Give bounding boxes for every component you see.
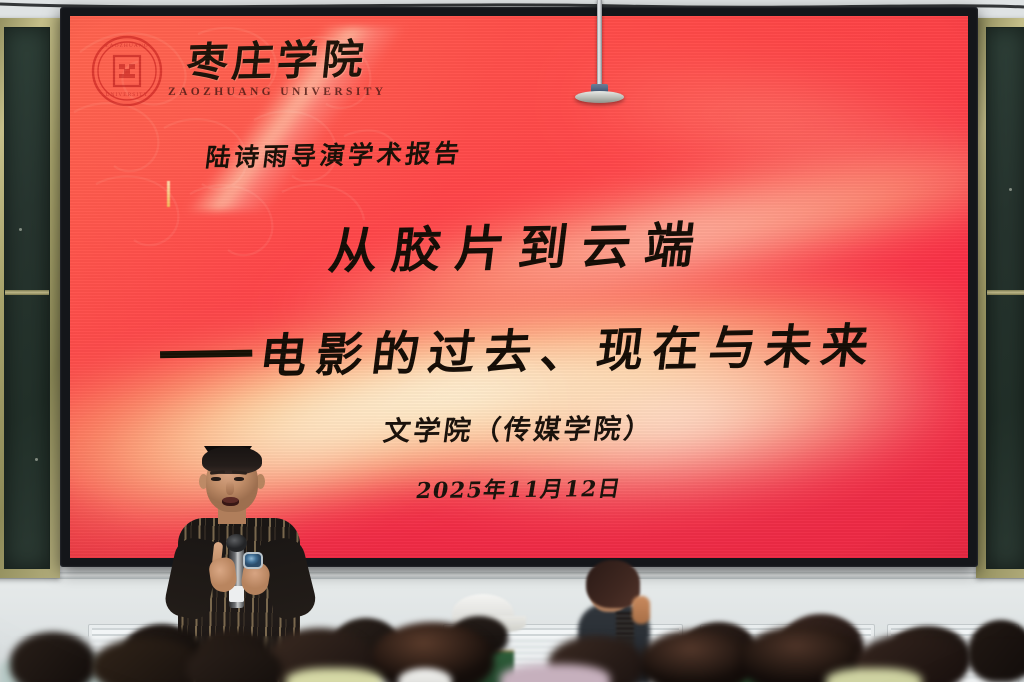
microphone-capsule <box>226 534 247 552</box>
speaker-eye <box>234 477 244 481</box>
audience-shoulder <box>826 668 922 682</box>
ceiling-hanger-rod <box>597 0 602 88</box>
audience-head <box>968 620 1024 682</box>
blackboard-surface-right <box>986 27 1024 569</box>
audience-head <box>10 632 96 682</box>
speaker-eye <box>211 477 221 481</box>
chalk-mark <box>1009 188 1012 191</box>
blackboard-rail-right <box>987 290 1024 295</box>
chalk-mark <box>35 458 38 461</box>
chalk-mark <box>19 228 22 231</box>
speaker-mouth <box>222 497 239 506</box>
audience-rows <box>0 556 1024 682</box>
green-blackboard-right <box>976 18 1024 578</box>
audience-shoulder <box>500 664 610 682</box>
blackboard-surface-left <box>4 27 50 569</box>
blackboard-rail-left <box>5 290 49 295</box>
green-blackboard-left <box>0 18 60 578</box>
speaker-nose <box>226 481 234 495</box>
ceiling-hanger-disc <box>575 91 624 103</box>
lecture-hall-photo: UNIVERSITY ZAOZHUANG 枣庄学院 ZAOZHUANG UNIV… <box>0 0 1024 682</box>
audience-shoulder <box>286 668 382 682</box>
